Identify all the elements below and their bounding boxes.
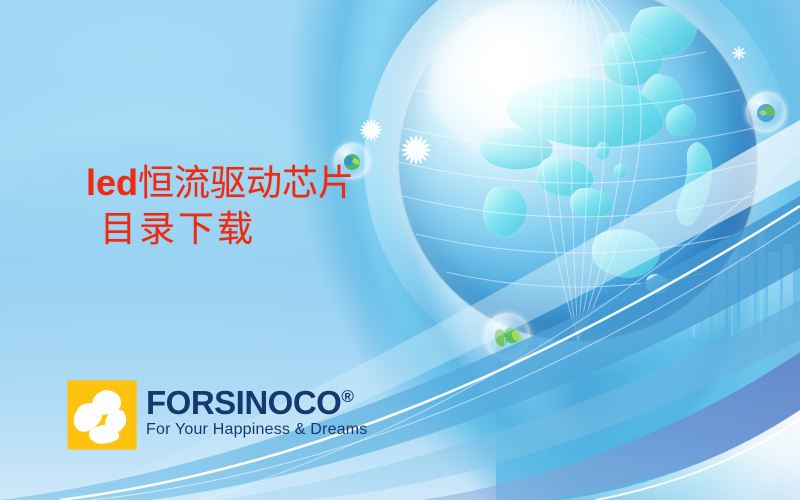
flower-sparkle-icon-3: [731, 45, 747, 61]
flower-sparkle-icon-1: [359, 118, 383, 142]
brand-logo-text: FORSINOCO® For Your Happiness & Dreams: [146, 381, 368, 439]
bubble-corner: [746, 92, 786, 132]
world-globe: [398, 0, 758, 342]
flower-sparkle-icon-2: [400, 134, 432, 166]
headline-line-2: 目录下载: [100, 207, 354, 253]
headline-line-1: led恒流驱动芯片: [86, 160, 354, 207]
forsinoco-petal-mark-icon: [68, 381, 136, 449]
headline-latin-prefix: led: [86, 162, 138, 203]
headline: led恒流驱动芯片 目录下载: [86, 160, 354, 253]
brand-logo[interactable]: FORSINOCO® For Your Happiness & Dreams: [68, 381, 368, 449]
bubble-leaf: [484, 313, 530, 359]
headline-cjk-suffix: 恒流驱动芯片: [138, 163, 354, 204]
brand-tagline: For Your Happiness & Dreams: [146, 421, 368, 439]
registered-trademark-symbol: ®: [341, 387, 354, 406]
brand-name: FORSINOCO®: [146, 387, 368, 418]
globe-sphere: [398, 0, 758, 342]
brand-name-word: FORSINOCO: [146, 384, 341, 421]
banner-canvas: led恒流驱动芯片 目录下载 FORSINOCO® For: [0, 0, 800, 500]
